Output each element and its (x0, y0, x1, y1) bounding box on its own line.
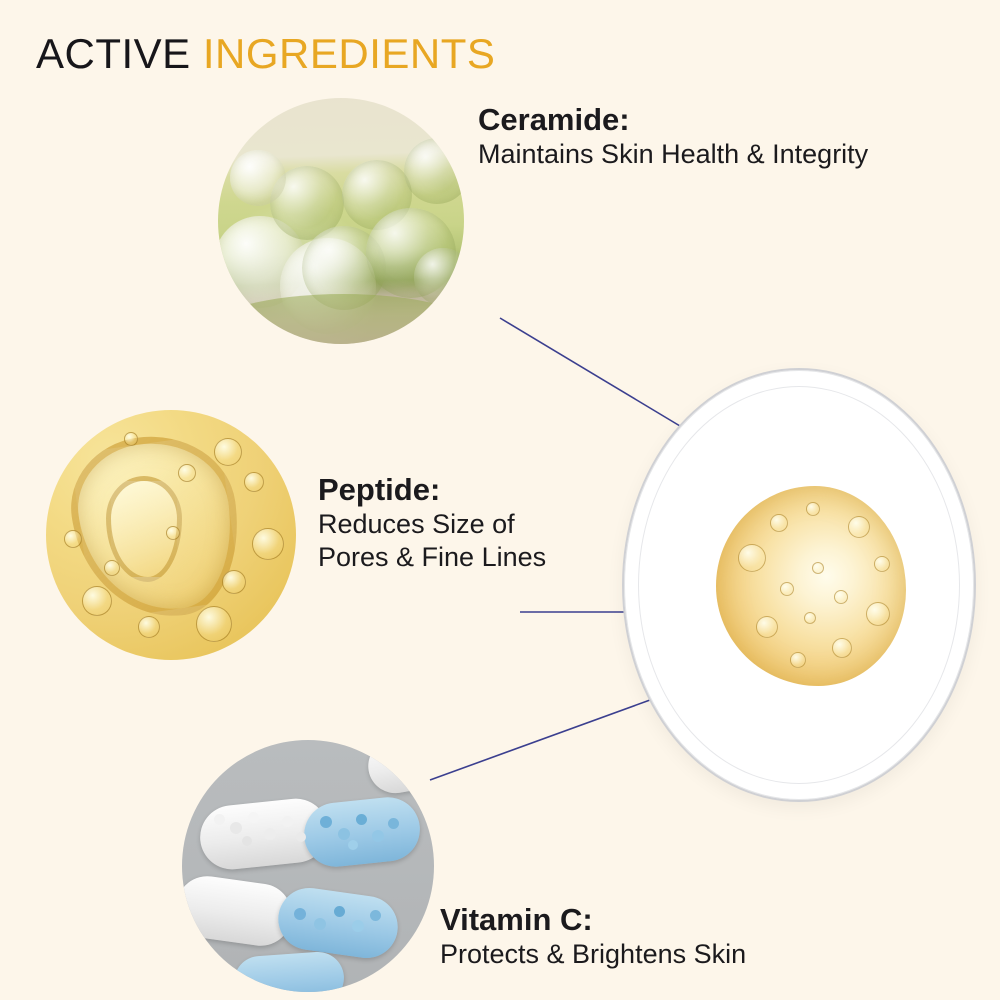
surface-band (218, 294, 464, 344)
oil-bubble (222, 570, 246, 594)
bead (282, 816, 293, 827)
serum-bubble (738, 544, 766, 572)
bead (334, 906, 345, 917)
oil-bubble (252, 528, 284, 560)
bead (264, 828, 276, 840)
peptide-serum-photo (46, 410, 296, 660)
oil-bubble (104, 560, 120, 576)
oil-bubble (138, 616, 160, 638)
title-word-ingredients: INGREDIENTS (203, 30, 496, 77)
serum-bubble (848, 516, 870, 538)
bead (314, 918, 326, 930)
serum-bubble (834, 590, 848, 604)
bead (370, 910, 381, 921)
bead (356, 814, 367, 825)
serum-bubble (804, 612, 816, 624)
serum-dish (622, 368, 976, 802)
peptide-label-block: Peptide: Reduces Size of Pores & Fine Li… (318, 472, 546, 575)
bead (348, 840, 358, 850)
oil-bubble (244, 472, 264, 492)
serum-bubble (806, 502, 820, 516)
bead-cluster (208, 806, 316, 860)
vitamin-c-description: Protects & Brightens Skin (440, 938, 746, 972)
peptide-description-line-1: Reduces Size of (318, 508, 546, 542)
oil-bubble (64, 530, 82, 548)
oil-bubble (82, 586, 112, 616)
connector-line-vitaminc (430, 700, 650, 780)
bubble (230, 150, 286, 206)
oil-bubble (214, 438, 242, 466)
capsule-white (364, 740, 434, 797)
capsule-blue (232, 950, 345, 992)
bubble (404, 138, 464, 204)
serum-bubble (832, 638, 852, 658)
bead (242, 836, 252, 846)
bead (320, 816, 332, 828)
poster-canvas: ACTIVE INGREDIENTS Ceramide: Maintains S… (0, 0, 1000, 1000)
serum-bubble (770, 514, 788, 532)
peptide-description-line-2: Pores & Fine Lines (318, 541, 546, 575)
oil-bubble (178, 464, 196, 482)
bead (294, 908, 306, 920)
bead (372, 830, 384, 842)
vitamin-c-label-block: Vitamin C: Protects & Brightens Skin (440, 902, 746, 971)
serum-bubble (790, 652, 806, 668)
oil-bubble (124, 432, 138, 446)
bead (230, 822, 242, 834)
vitamin-c-title: Vitamin C: (440, 902, 746, 938)
ceramide-title: Ceramide: (478, 102, 868, 138)
connector-line-ceramide (500, 318, 690, 432)
oil-bubble (166, 526, 180, 540)
bead-cluster (314, 806, 414, 860)
ceramide-description: Maintains Skin Health & Integrity (478, 138, 868, 172)
serum-bubble (756, 616, 778, 638)
serum-bubble (812, 562, 824, 574)
bead (214, 814, 225, 825)
bead (352, 920, 364, 932)
ceramide-label-block: Ceramide: Maintains Skin Health & Integr… (478, 102, 868, 171)
bead-cluster (288, 898, 392, 948)
peptide-title: Peptide: (318, 472, 546, 508)
bead (248, 812, 259, 823)
title-word-active: ACTIVE (36, 30, 191, 77)
bead (296, 832, 306, 842)
serum-bubble (780, 582, 794, 596)
serum-bubble (866, 602, 890, 626)
bead (338, 828, 350, 840)
oil-bubble (196, 606, 232, 642)
vitamin-c-capsules-photo (182, 740, 434, 992)
bubble (414, 248, 464, 306)
ceramide-bubbles-photo (218, 98, 464, 344)
serum-bubble (874, 556, 890, 572)
bead (388, 818, 399, 829)
serum-drop (716, 486, 906, 686)
page-title: ACTIVE INGREDIENTS (36, 30, 495, 78)
